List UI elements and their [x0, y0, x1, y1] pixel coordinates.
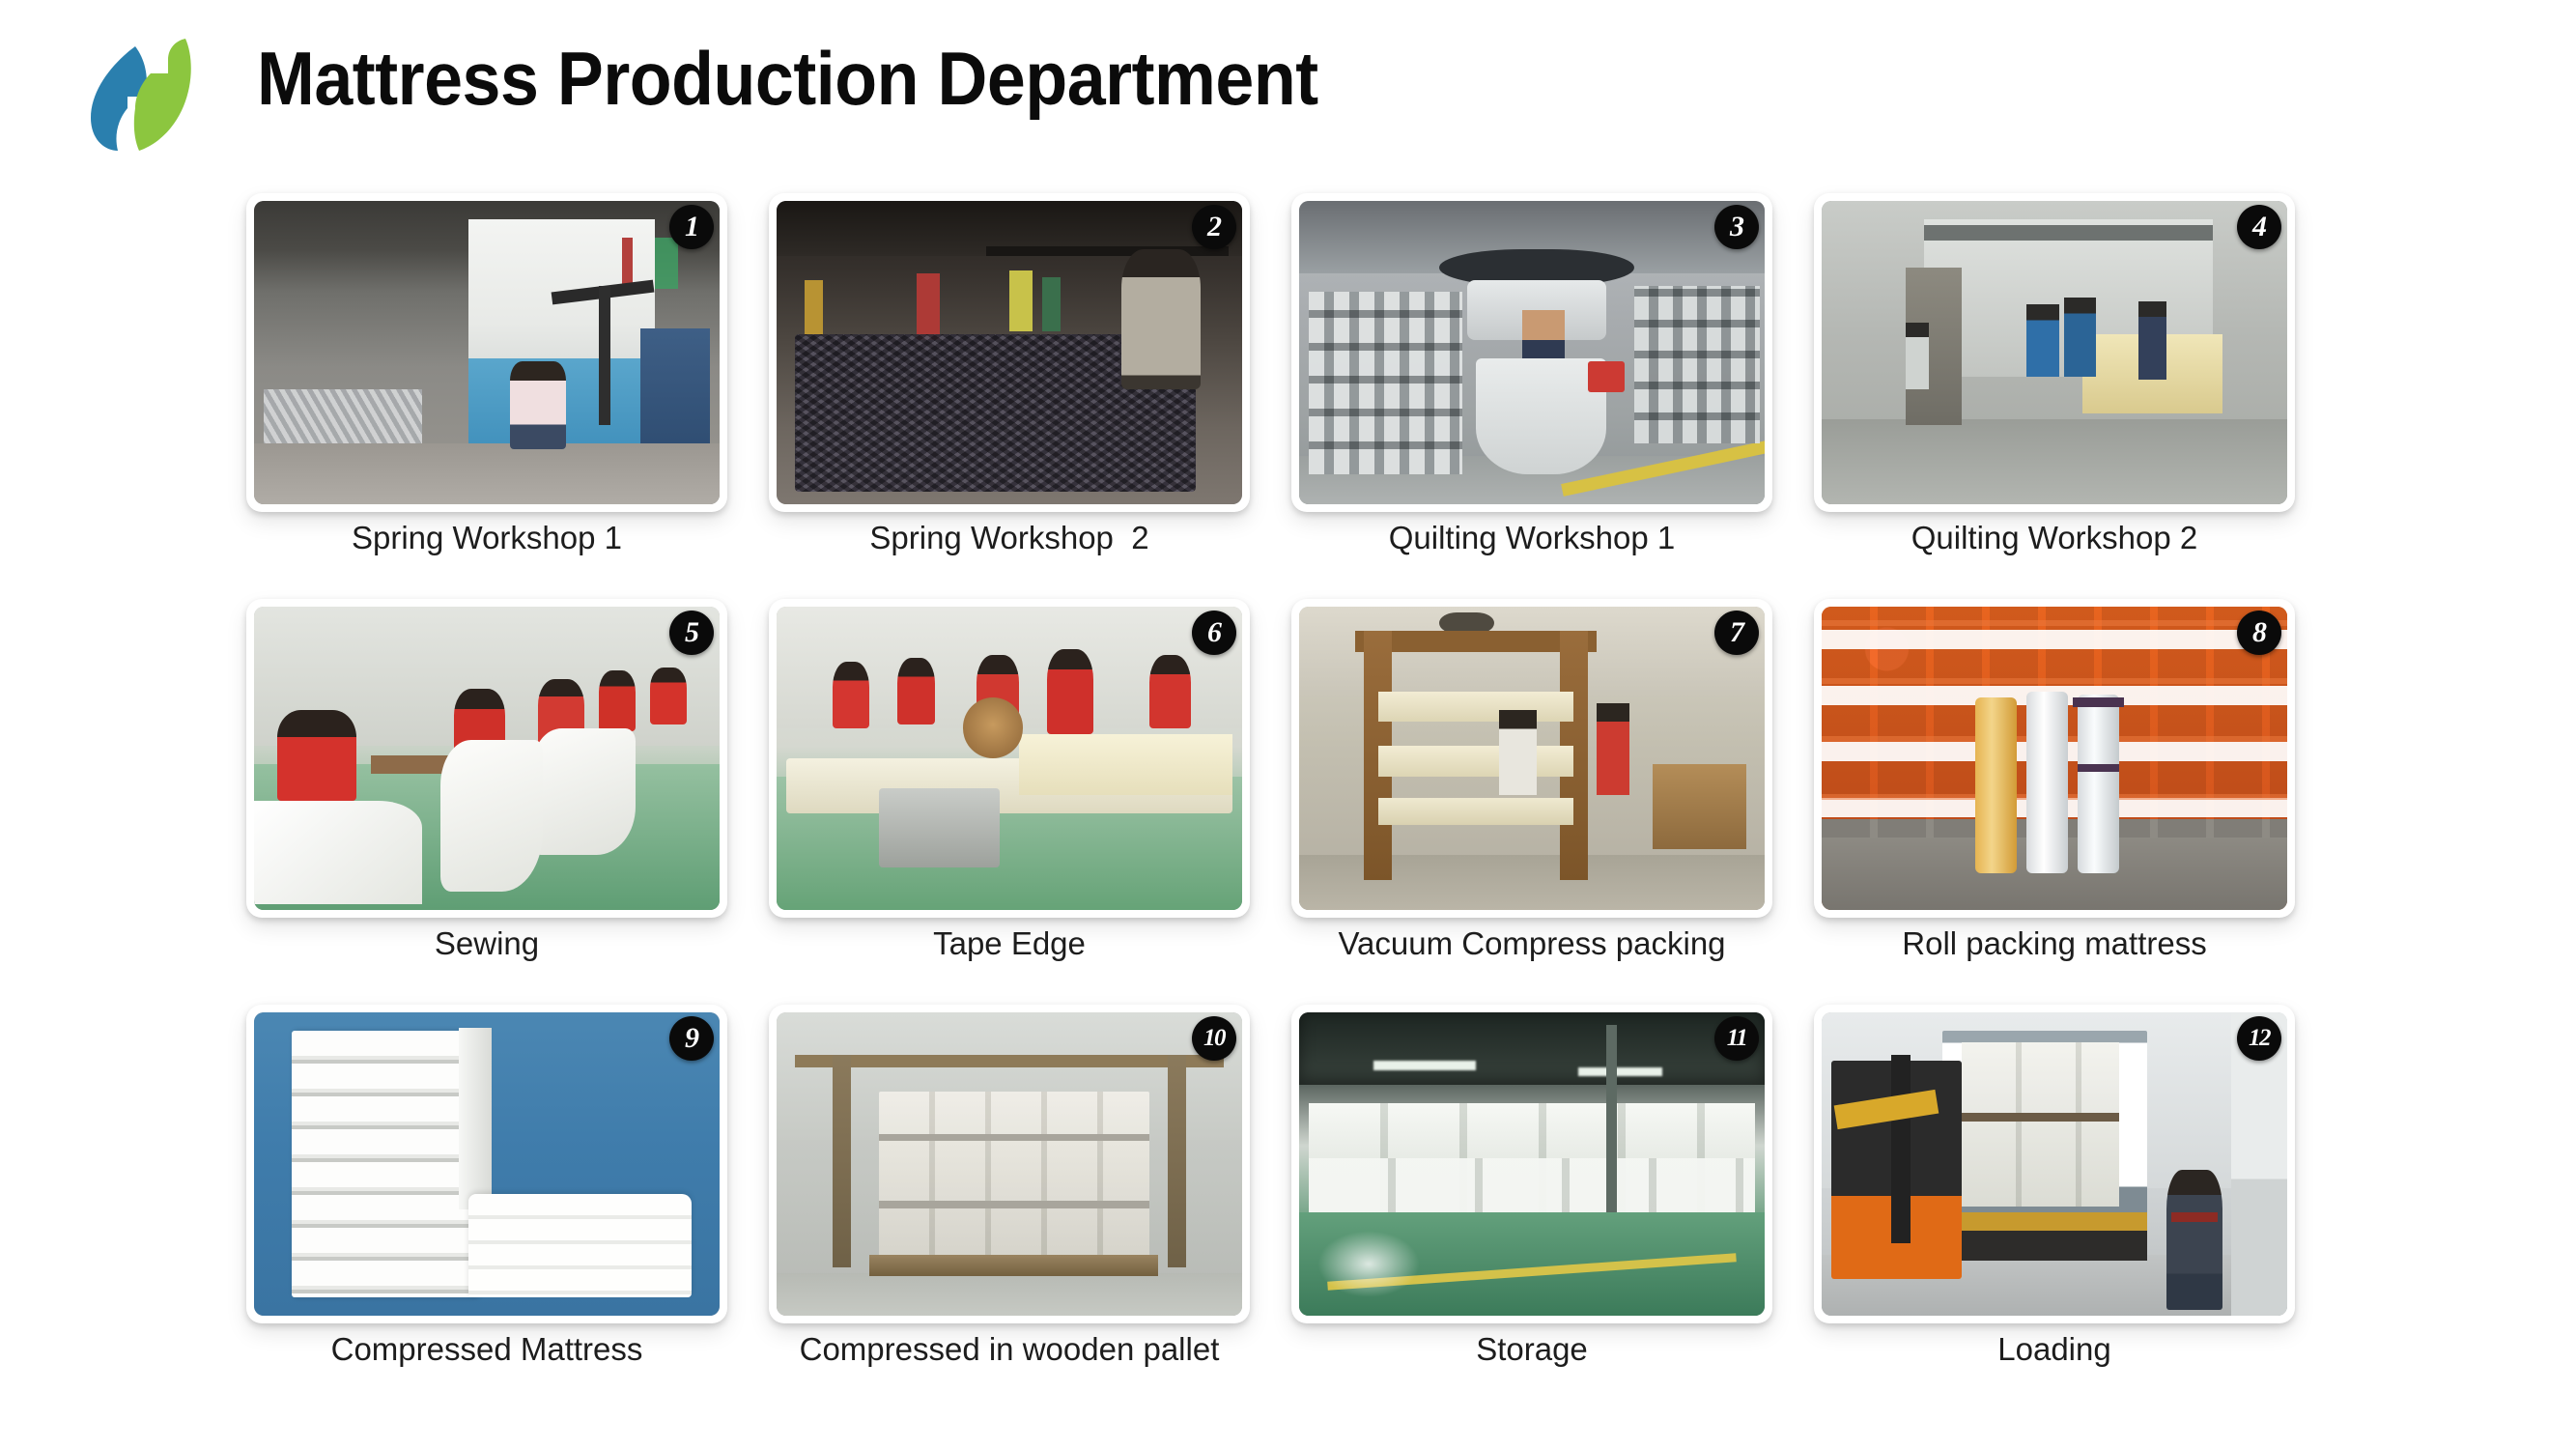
- photo-card[interactable]: 12: [1814, 1005, 2295, 1323]
- grid-item-7[interactable]: 7 Vacuum Compress packing: [1291, 599, 1772, 1005]
- step-number-badge: 9: [669, 1016, 714, 1061]
- grid-item-12[interactable]: 12 Loading: [1814, 1005, 2295, 1410]
- step-caption: Loading: [1814, 1331, 2295, 1368]
- step-number-badge: 1: [669, 205, 714, 249]
- grid-item-10[interactable]: 10 Compressed in wooden pallet: [769, 1005, 1250, 1410]
- photo-tape-edge: [777, 607, 1242, 910]
- photo-roll-packing-mattress: [1822, 607, 2287, 910]
- photo-card[interactable]: 5: [246, 599, 727, 918]
- step-caption: Storage: [1291, 1331, 1772, 1368]
- photo-card[interactable]: 7: [1291, 599, 1772, 918]
- production-steps-grid: 1 Spring Workshop 1: [246, 193, 2352, 1410]
- photo-card[interactable]: 11: [1291, 1005, 1772, 1323]
- step-caption: Quilting Workshop 1: [1291, 520, 1772, 556]
- step-number-badge: 11: [1714, 1016, 1759, 1061]
- photo-card[interactable]: 1: [246, 193, 727, 512]
- step-number-badge: 4: [2237, 205, 2281, 249]
- step-caption: Tape Edge: [769, 925, 1250, 962]
- photo-quilting-workshop-2: [1822, 201, 2287, 504]
- step-number-badge: 10: [1192, 1016, 1236, 1061]
- photo-compressed-in-wooden-pallet: [777, 1012, 1242, 1316]
- grid-row: 1 Spring Workshop 1: [246, 193, 2352, 599]
- photo-storage: [1299, 1012, 1765, 1316]
- grid-item-9[interactable]: 9 Compressed Mattress: [246, 1005, 727, 1410]
- grid-item-6[interactable]: 6 Tape Edge: [769, 599, 1250, 1005]
- grid-item-3[interactable]: 3 Quilting Workshop 1: [1291, 193, 1772, 599]
- photo-sewing: [254, 607, 720, 910]
- grid-item-1[interactable]: 1 Spring Workshop 1: [246, 193, 727, 599]
- photo-card[interactable]: 3: [1291, 193, 1772, 512]
- step-caption: Vacuum Compress packing: [1291, 925, 1772, 962]
- step-caption: Quilting Workshop 2: [1814, 520, 2295, 556]
- step-caption: Compressed in wooden pallet: [769, 1331, 1250, 1368]
- photo-spring-workshop-1: [254, 201, 720, 504]
- grid-item-2[interactable]: 2 Spring Workshop 2: [769, 193, 1250, 599]
- grid-item-11[interactable]: 11 Storage: [1291, 1005, 1772, 1410]
- photo-vacuum-compress-packing: [1299, 607, 1765, 910]
- step-caption: Spring Workshop 1: [246, 520, 727, 556]
- photo-card[interactable]: 6: [769, 599, 1250, 918]
- photo-card[interactable]: 4: [1814, 193, 2295, 512]
- company-leaf-logo: [75, 35, 230, 160]
- photo-card[interactable]: 9: [246, 1005, 727, 1323]
- step-caption: Sewing: [246, 925, 727, 962]
- photo-card[interactable]: 8: [1814, 599, 2295, 918]
- photo-loading: [1822, 1012, 2287, 1316]
- slide-header: Mattress Production Department: [0, 0, 2576, 184]
- photo-spring-workshop-2: [777, 201, 1242, 504]
- grid-item-5[interactable]: 5 Sewing: [246, 599, 727, 1005]
- grid-row: 9 Compressed Mattress: [246, 1005, 2352, 1410]
- photo-card[interactable]: 2: [769, 193, 1250, 512]
- photo-card[interactable]: 10: [769, 1005, 1250, 1323]
- photo-quilting-workshop-1: [1299, 201, 1765, 504]
- step-caption: Spring Workshop 2: [769, 520, 1250, 556]
- step-number-badge: 8: [2237, 611, 2281, 655]
- grid-item-4[interactable]: 4 Quilting Workshop 2: [1814, 193, 2295, 599]
- step-caption: Compressed Mattress: [246, 1331, 727, 1368]
- step-number-badge: 3: [1714, 205, 1759, 249]
- step-number-badge: 5: [669, 611, 714, 655]
- step-number-badge: 12: [2237, 1016, 2281, 1061]
- grid-row: 5 Sewing: [246, 599, 2352, 1005]
- slide: Mattress Production Department: [0, 0, 2576, 1449]
- step-number-badge: 6: [1192, 611, 1236, 655]
- photo-compressed-mattress: [254, 1012, 720, 1316]
- step-caption: Roll packing mattress: [1814, 925, 2295, 962]
- step-number-badge: 7: [1714, 611, 1759, 655]
- page-title: Mattress Production Department: [257, 41, 1318, 116]
- grid-item-8[interactable]: 8 Roll packing mattress: [1814, 599, 2295, 1005]
- step-number-badge: 2: [1192, 205, 1236, 249]
